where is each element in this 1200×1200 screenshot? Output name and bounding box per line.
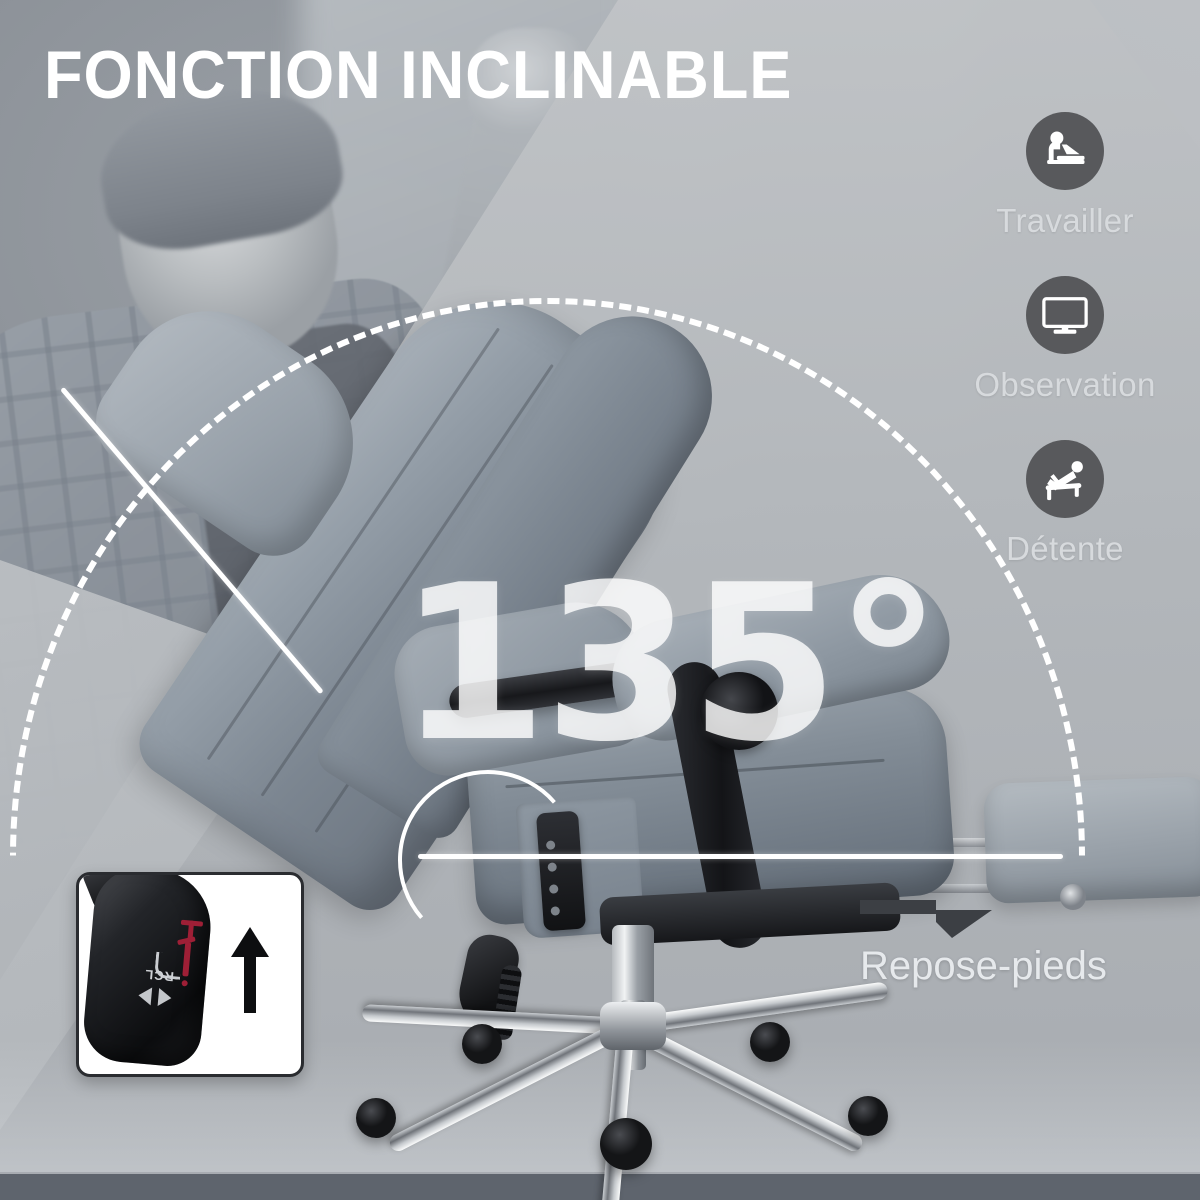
feature-label: Travailler xyxy=(996,202,1133,240)
chair-caster xyxy=(848,1096,888,1136)
person-reclining-icon xyxy=(1026,440,1104,518)
page-title: FONCTION INCLINABLE xyxy=(44,36,792,114)
lever-marking-text: RCL xyxy=(144,967,175,985)
lever-body: RCL xyxy=(81,872,216,1069)
chair-base-hub xyxy=(600,1002,666,1050)
footrest-label: Repose-pieds xyxy=(860,944,1107,989)
chair-caster xyxy=(356,1098,396,1138)
recline-lever-detail-inset: RCL xyxy=(76,872,304,1077)
feature-item-observation[interactable]: Observation xyxy=(940,276,1190,404)
feature-label: Détente xyxy=(1006,530,1124,568)
chair-caster xyxy=(462,1024,502,1064)
angle-value-overlay: 135° xyxy=(398,556,938,771)
chair-base-star xyxy=(350,1000,920,1130)
product-feature-banner: 135° FONCTION INCLINABLE Travailler xyxy=(0,0,1200,1200)
person-at-laptop-icon xyxy=(1026,112,1104,190)
arrow-up-icon xyxy=(231,927,269,957)
lever-direction-arrows xyxy=(138,986,179,1007)
massage-remote-control xyxy=(536,811,586,932)
arrow-up-stem xyxy=(244,955,256,1013)
feature-label: Observation xyxy=(974,366,1155,404)
chair-caster xyxy=(750,1022,790,1062)
feature-list: Travailler Observation xyxy=(940,112,1190,604)
footrest-callout: Repose-pieds xyxy=(860,900,1107,989)
television-icon xyxy=(1026,276,1104,354)
footrest-cushion xyxy=(983,776,1200,904)
feature-item-detente[interactable]: Détente xyxy=(940,440,1190,568)
feature-item-travailler[interactable]: Travailler xyxy=(940,112,1190,240)
arrow-right-icon xyxy=(860,900,992,938)
chair-caster xyxy=(600,1118,652,1170)
